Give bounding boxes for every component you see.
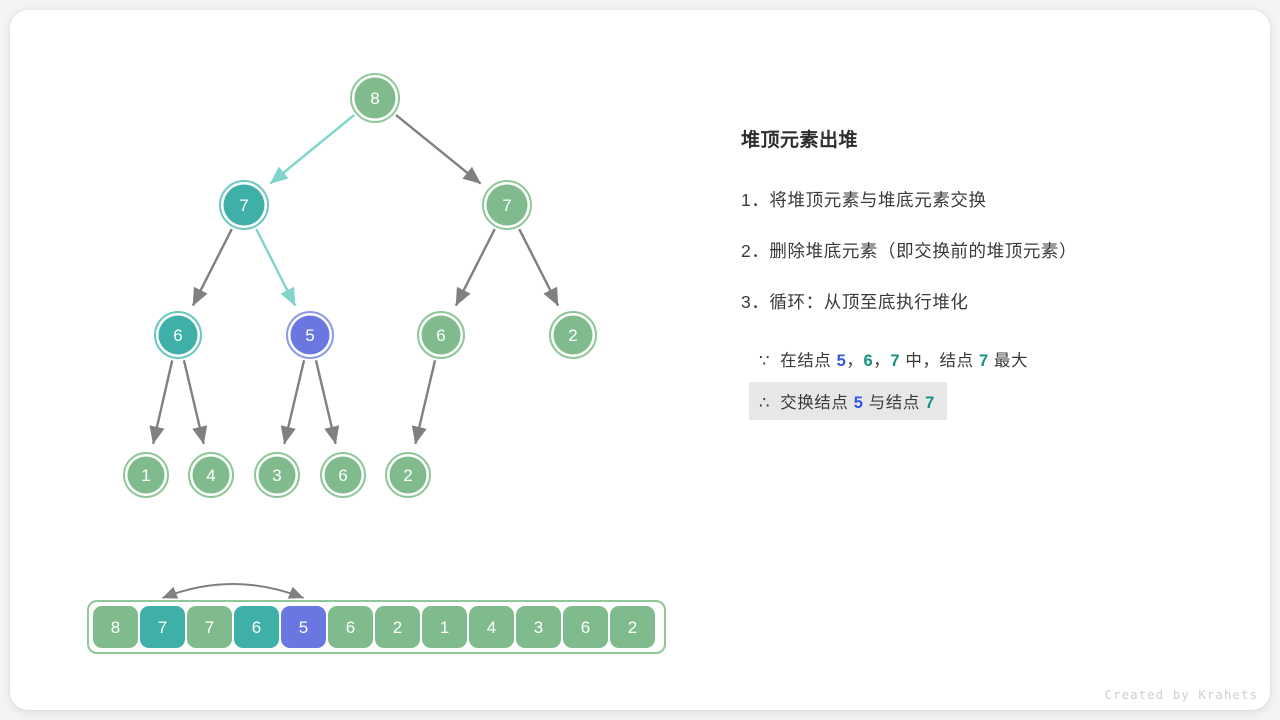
conclusion-value: 7 — [979, 352, 989, 370]
steps-list: 1．将堆顶元素与堆底元素交换2．删除堆底元素（即交换前的堆顶元素）3．循环：从顶… — [741, 187, 1221, 314]
node-value: 5 — [305, 326, 314, 345]
conclusion-text: ， — [873, 352, 890, 370]
array-cell[interactable]: 2 — [375, 606, 420, 648]
conclusion-value: 6 — [863, 352, 873, 370]
tree-edge — [316, 360, 336, 444]
tree-node[interactable]: 7 — [220, 181, 268, 229]
swap-arrow — [163, 584, 304, 598]
node-value: 6 — [173, 326, 182, 345]
array-cell[interactable]: 1 — [422, 606, 467, 648]
screenshot-stage: 877656214362 877656214362 堆顶元素出堆 1．将堆顶元素… — [0, 0, 1280, 720]
tree-edge — [153, 360, 172, 443]
tree-node[interactable]: 5 — [287, 312, 333, 358]
tree-node[interactable]: 3 — [255, 453, 299, 497]
conclusion-row: ∵在结点 5，6，7 中，结点 7 最大 — [741, 340, 1221, 378]
tree-edge — [284, 360, 304, 444]
step-item: 3．循环：从顶至底执行堆化 — [741, 289, 1221, 314]
step-item: 1．将堆顶元素与堆底元素交换 — [741, 187, 1221, 212]
credit-footer: Created by Krahets — [1105, 687, 1258, 702]
array-cell-value: 3 — [534, 618, 543, 637]
conclusion-text: 与结点 — [863, 394, 925, 412]
tree-node[interactable]: 8 — [351, 74, 399, 122]
tree-node[interactable]: 6 — [155, 312, 201, 358]
node-value: 8 — [370, 89, 379, 108]
logic-symbol-icon: ∴ — [759, 393, 770, 413]
node-value: 3 — [272, 466, 281, 485]
explanation-panel: 堆顶元素出堆 1．将堆顶元素与堆底元素交换2．删除堆底元素（即交换前的堆顶元素）… — [741, 130, 1221, 424]
node-value: 6 — [338, 466, 347, 485]
array-cell[interactable]: 6 — [563, 606, 608, 648]
conclusion-text: 中，结点 — [900, 352, 979, 370]
node-value: 2 — [403, 466, 412, 485]
node-value: 4 — [206, 466, 215, 485]
array-cell-value: 6 — [581, 618, 590, 637]
tree-edge — [456, 229, 495, 305]
logic-symbol-icon: ∵ — [759, 351, 770, 371]
array-cell-value: 7 — [205, 618, 214, 637]
array-cell[interactable]: 4 — [469, 606, 514, 648]
array-cell-value: 2 — [628, 618, 637, 637]
conclusion-value: 7 — [925, 394, 935, 412]
array-cell-value: 7 — [158, 618, 167, 637]
tree-node[interactable]: 6 — [321, 453, 365, 497]
conclusion-row: ∴交换结点 5 与结点 7 — [741, 382, 1221, 420]
tree-node[interactable]: 6 — [418, 312, 464, 358]
tree-node[interactable]: 4 — [189, 453, 233, 497]
tree-edge — [256, 229, 295, 305]
array-cell[interactable]: 6 — [234, 606, 279, 648]
tree-node[interactable]: 1 — [124, 453, 168, 497]
tree-node[interactable]: 2 — [550, 312, 596, 358]
array-cell[interactable]: 2 — [610, 606, 655, 648]
array-cell-value: 2 — [393, 618, 402, 637]
array-cell-value: 1 — [440, 618, 449, 637]
node-value: 7 — [239, 196, 248, 215]
array-cell-value: 8 — [111, 618, 120, 637]
step-item: 2．删除堆底元素（即交换前的堆顶元素） — [741, 238, 1221, 263]
node-value: 2 — [568, 326, 577, 345]
conclusion-text: 在结点 — [780, 352, 836, 370]
tree-edge — [270, 115, 354, 183]
page-title: 堆顶元素出堆 — [741, 130, 1221, 153]
node-value: 7 — [502, 196, 511, 215]
conclusion-premise: ∵在结点 5，6，7 中，结点 7 最大 — [749, 340, 1040, 378]
node-value: 1 — [141, 466, 150, 485]
conclusion-text: ， — [846, 352, 863, 370]
conclusion-text: 最大 — [989, 352, 1028, 370]
array-cell-value: 6 — [252, 618, 261, 637]
array-cell-value: 6 — [346, 618, 355, 637]
tree-edge — [519, 229, 558, 305]
array-representation: 877656214362 — [88, 584, 665, 653]
array-cell[interactable]: 5 — [281, 606, 326, 648]
node-value: 6 — [436, 326, 445, 345]
tree-node[interactable]: 7 — [483, 181, 531, 229]
array-cell-value: 5 — [299, 618, 308, 637]
array-cell-value: 4 — [487, 618, 496, 637]
tree-edge — [396, 115, 481, 184]
tree-edge — [193, 229, 232, 305]
array-cell[interactable]: 6 — [328, 606, 373, 648]
tree-node[interactable]: 2 — [386, 453, 430, 497]
tree-edge — [415, 360, 435, 444]
conclusion-value: 7 — [890, 352, 900, 370]
tree-edges — [153, 115, 558, 444]
tree-edge — [184, 360, 204, 444]
conclusion-highlighted: ∴交换结点 5 与结点 7 — [749, 382, 947, 420]
conclusion-text: 交换结点 — [780, 394, 854, 412]
array-cell[interactable]: 8 — [93, 606, 138, 648]
array-cell[interactable]: 7 — [187, 606, 232, 648]
tree-nodes: 877656214362 — [124, 74, 596, 497]
conclusion-value: 5 — [837, 352, 847, 370]
array-cell[interactable]: 7 — [140, 606, 185, 648]
conclusions-list: ∵在结点 5，6，7 中，结点 7 最大∴交换结点 5 与结点 7 — [741, 340, 1221, 420]
array-cell[interactable]: 3 — [516, 606, 561, 648]
